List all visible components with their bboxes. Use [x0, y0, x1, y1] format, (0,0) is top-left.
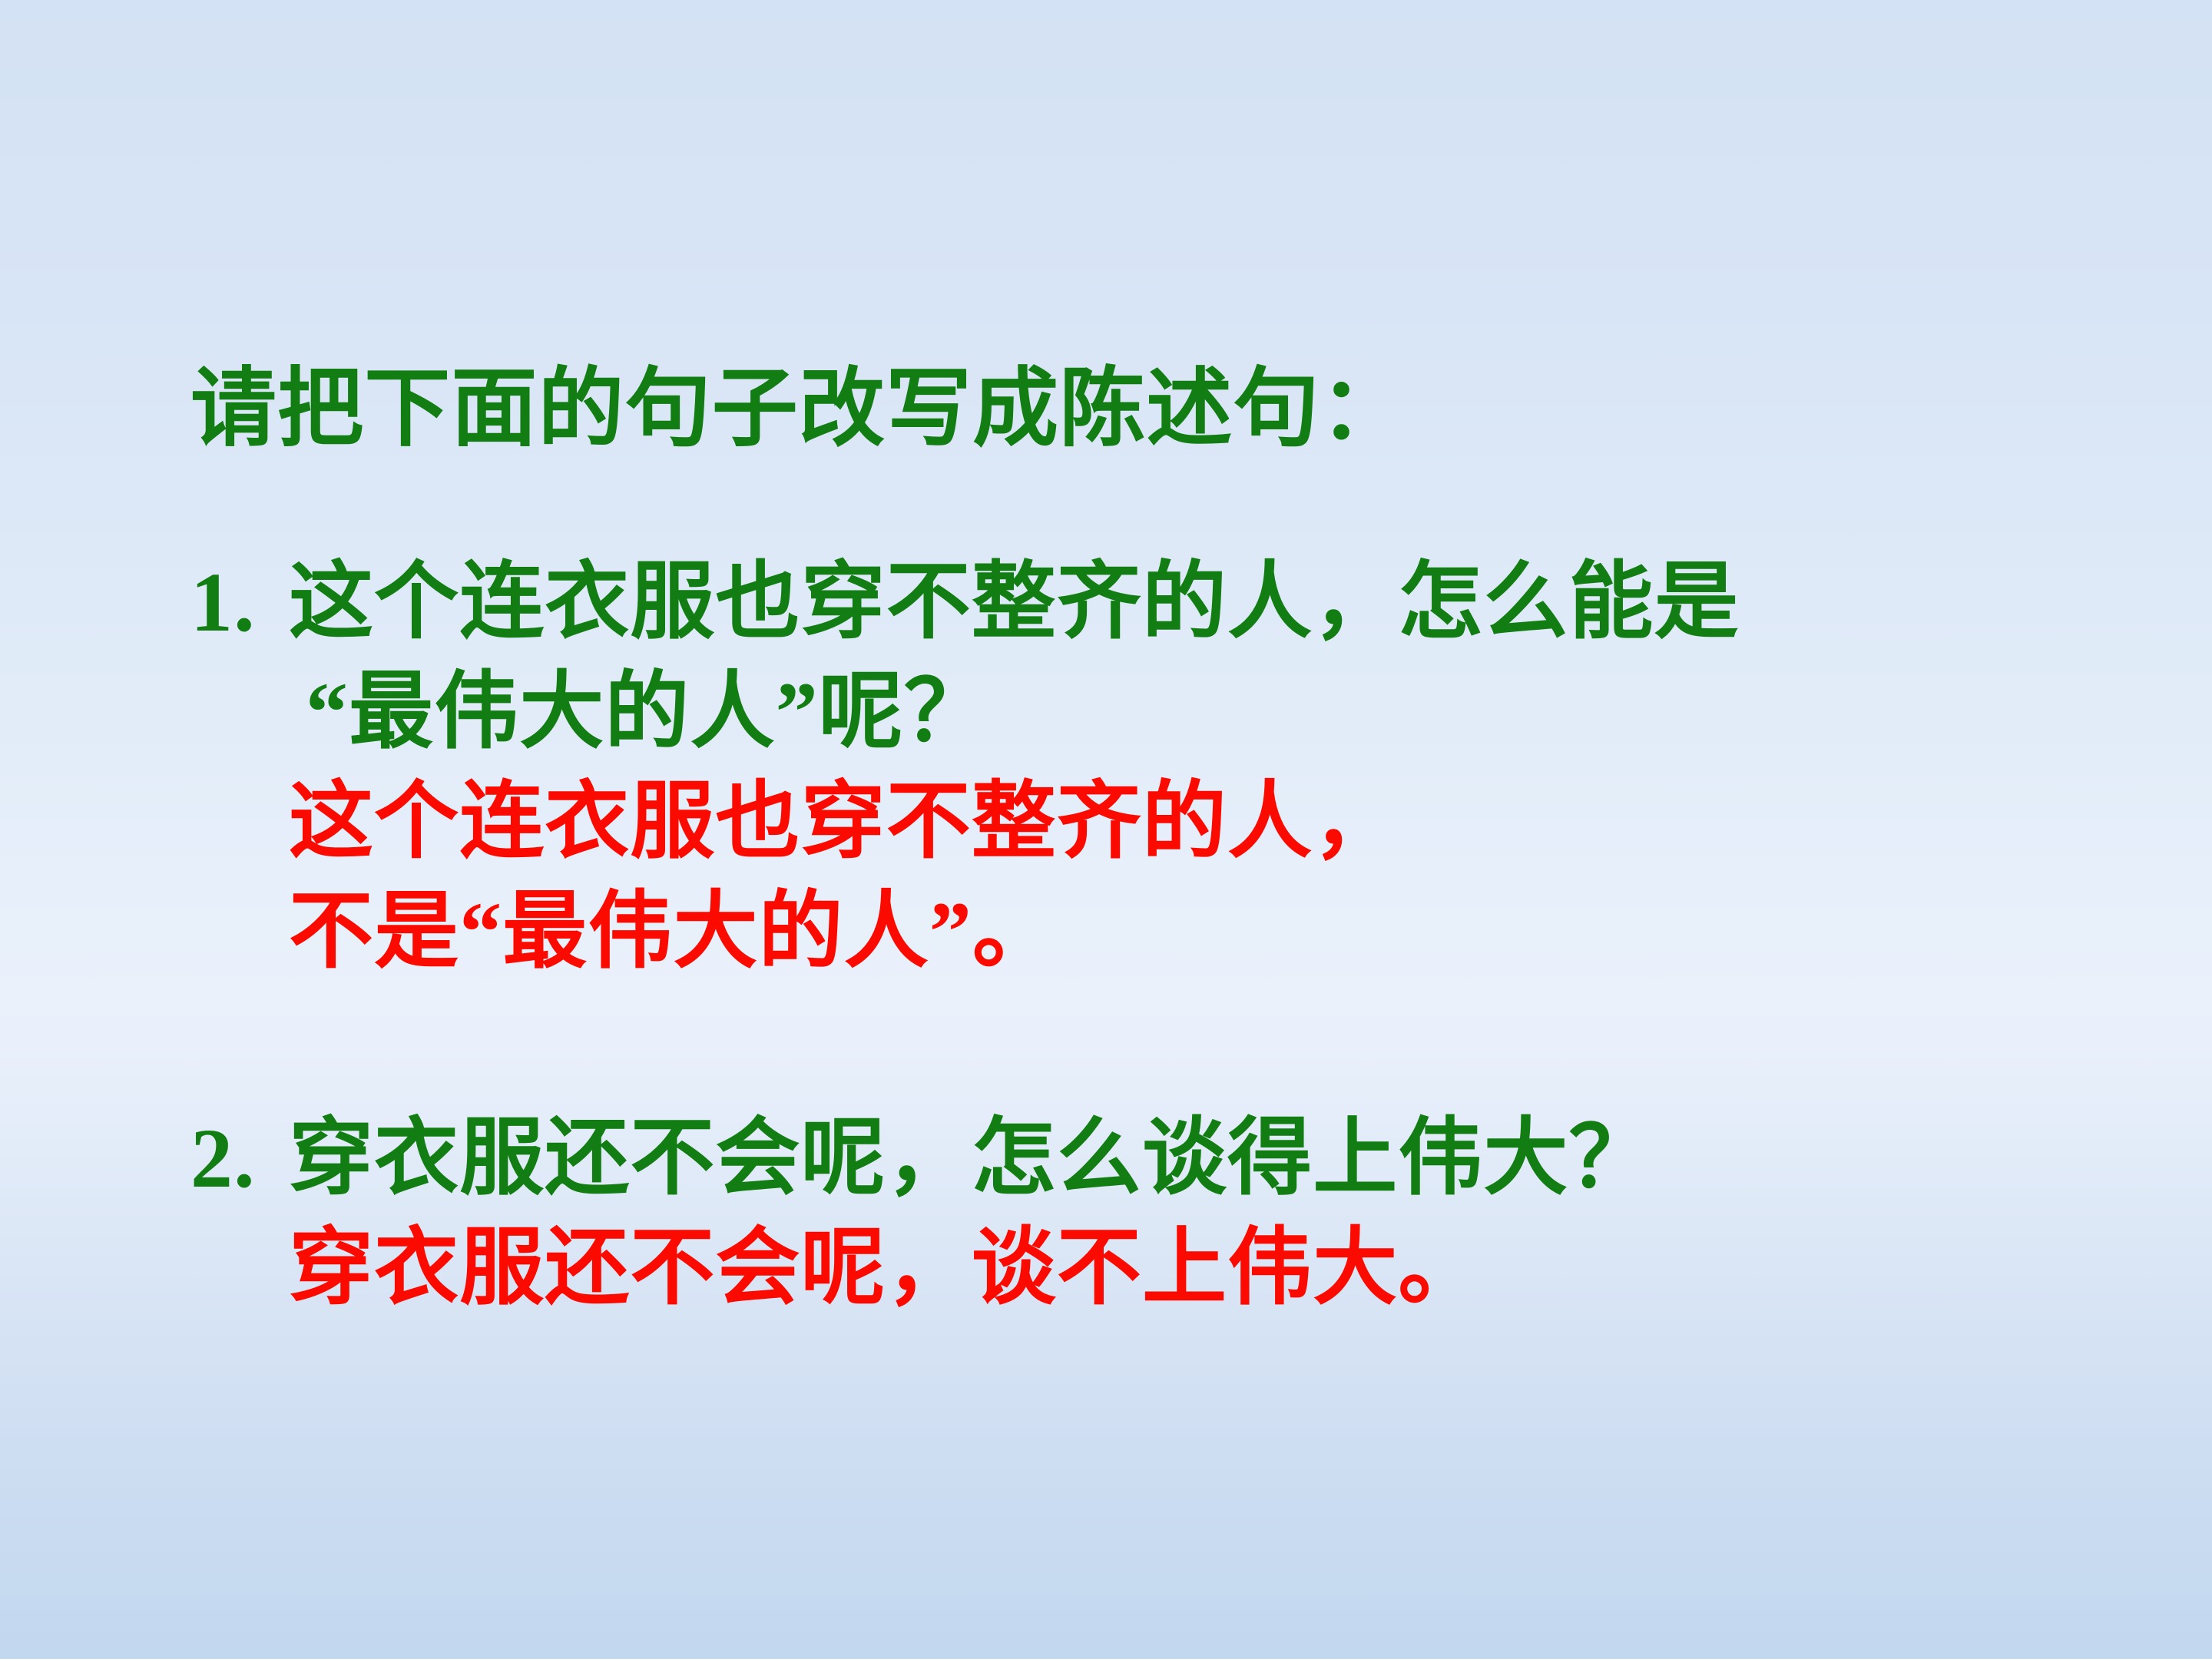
item-gap-spacer	[190, 987, 2111, 1104]
exercise-item-1: 1.这个连衣服也穿不整齐的人，怎么能是 “最伟大的人”呢？ 这个连衣服也穿不整齐…	[190, 548, 2111, 987]
item-2-answer-text-1: 穿衣服还不会呢，谈不上伟大。	[289, 1221, 1483, 1315]
item-1-question-line-2: “最伟大的人”呢？	[190, 657, 2111, 767]
item-1-answer-line-2: 不是“最伟大的人”。	[190, 877, 2111, 987]
title-gap-spacer	[190, 465, 2111, 548]
item-1-number: 1.	[190, 548, 289, 657]
item-1-answer-line-1: 这个连衣服也穿不整齐的人，	[190, 767, 2111, 877]
item-2-question-text-1: 穿衣服还不会呢，怎么谈得上伟大？	[289, 1111, 1654, 1205]
slide-content: 请把下面的句子改写成陈述句： 1.这个连衣服也穿不整齐的人，怎么能是 “最伟大的…	[190, 355, 2111, 1323]
item-1-answer-text-2: 不是“最伟大的人”。	[289, 885, 1058, 979]
item-2-question-line-1: 2.穿衣服还不会呢，怎么谈得上伟大？	[190, 1104, 2111, 1214]
item-1-question-line-1: 1.这个连衣服也穿不整齐的人，怎么能是	[190, 548, 2111, 657]
item-1-answer-text-1: 这个连衣服也穿不整齐的人，	[289, 775, 1398, 869]
item-2-number: 2.	[190, 1104, 289, 1214]
item-2-answer-line-1: 穿衣服还不会呢，谈不上伟大。	[190, 1214, 2111, 1323]
item-1-question-text-2: “最伟大的人”呢？	[306, 665, 989, 759]
slide-canvas: 请把下面的句子改写成陈述句： 1.这个连衣服也穿不整齐的人，怎么能是 “最伟大的…	[0, 0, 2212, 1659]
page-title: 请把下面的句子改写成陈述句：	[190, 355, 2111, 465]
item-1-question-text-1: 这个连衣服也穿不整齐的人，怎么能是	[289, 555, 1740, 649]
exercise-item-2: 2.穿衣服还不会呢，怎么谈得上伟大？ 穿衣服还不会呢，谈不上伟大。	[190, 1104, 2111, 1323]
